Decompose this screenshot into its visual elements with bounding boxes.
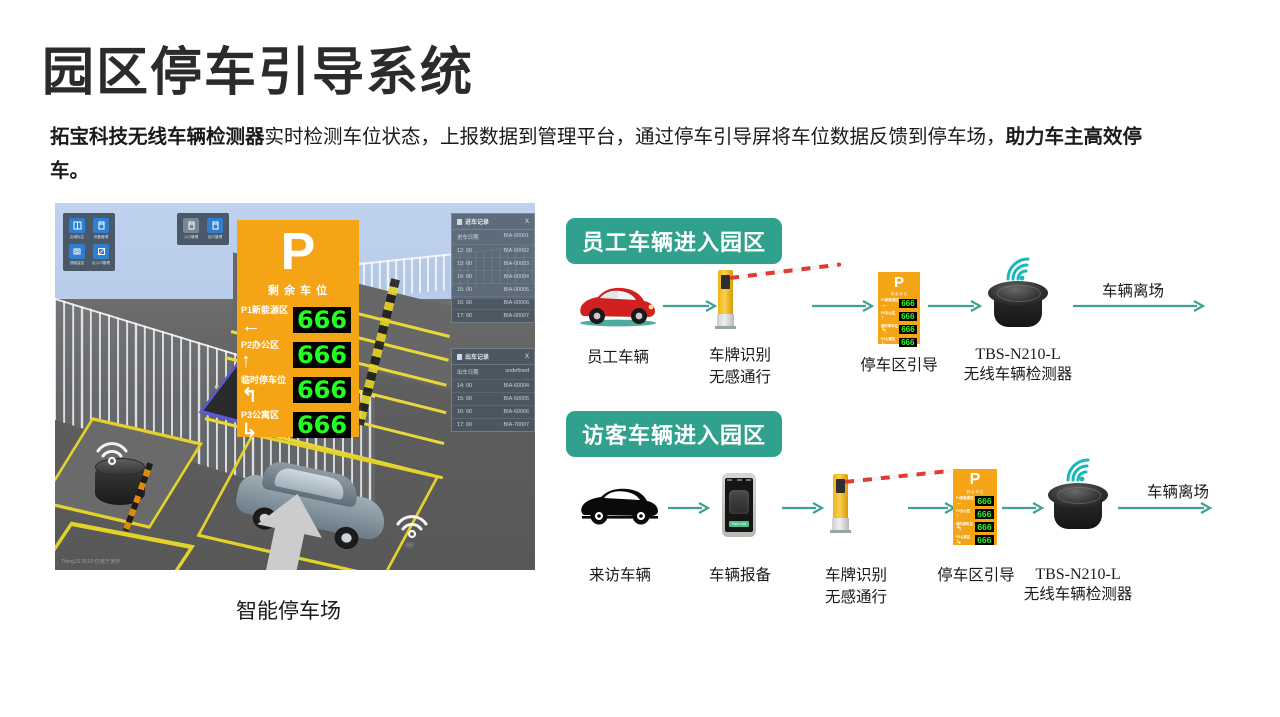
puck-top	[988, 281, 1048, 305]
panel-icon	[69, 218, 85, 233]
page-subtitle: 拓宝科技无线车辆检测器实时检测车位状态，上报数据到管理平台，通过停车引导屏将车位…	[50, 120, 1180, 188]
wifi-signal-icon	[395, 513, 429, 539]
sign-row-3: P3公寓区 ↳ 666	[241, 408, 355, 441]
slide-root: 园区停车引导系统 拓宝科技无线车辆检测器实时检测车位状态，上报数据到管理平台，通…	[0, 0, 1280, 717]
scene-watermark: ThingJS 2019 仅用于演示	[61, 558, 120, 565]
exit-time: 15: 00	[457, 396, 472, 402]
entry-time: 13: 00	[457, 261, 472, 267]
gate-foot	[830, 530, 851, 533]
flow-arrow-2-3	[908, 502, 958, 514]
flow-badge-visitor: 访客车辆进入园区	[566, 411, 782, 457]
tool-button-2[interactable]: 视频监控	[67, 244, 87, 266]
parking-guidance-sign-icon: P 剩 余 车 位 P1新能源区 ← 666 P2办公区 ↑ 666 临时停车位…	[953, 469, 997, 545]
flow-arrow-1-1	[663, 300, 719, 312]
table-row[interactable]: 16: 00BIA-00006	[452, 297, 534, 310]
entry-col-right: BIA-00001	[504, 233, 529, 241]
sign-row-2: 临时停车位 ↰ 666	[241, 373, 355, 406]
table-row[interactable]: 17: 00BIA-70007	[452, 419, 534, 431]
sign-row-small-3: P3公寓区 ↳ 666	[956, 534, 994, 546]
scene-detector-small	[403, 541, 416, 549]
list-icon	[457, 354, 462, 360]
page-title: 园区停车引导系统	[42, 44, 474, 104]
table-row[interactable]: 14: 00BIA-00004	[452, 271, 534, 284]
exit-time: 16: 00	[457, 409, 472, 415]
sign-row-small-2: 临时停车位 ↰ 666	[881, 323, 917, 335]
park-now-button[interactable]: Park now	[729, 521, 749, 527]
exit-records-panel[interactable]: 出车记录 X 出车日期 undefined 14: 00BIA-60004 15…	[451, 348, 535, 432]
tool-label-0: 区域标注	[70, 235, 84, 240]
sign-count-small-2: 666	[899, 325, 917, 334]
scene-caption: 智能停车场	[236, 595, 341, 625]
sign-count-small-0: 666	[975, 496, 994, 506]
sign-title: 剩 余 车 位	[237, 282, 359, 298]
camera-icon	[69, 244, 85, 259]
phone-statusbar	[727, 479, 751, 482]
exit-id: BIA-50005	[504, 396, 529, 402]
device-icon	[93, 218, 109, 233]
entry-id: BIA-00003	[504, 261, 529, 267]
table-row[interactable]: 13: 00BIA-00003	[452, 258, 534, 271]
flow-arrow-2-4	[1002, 502, 1046, 514]
red-car-icon	[578, 283, 658, 329]
p-letter-small: P	[953, 472, 997, 488]
tool-button-0[interactable]: 区域标注	[67, 218, 87, 240]
gate-base	[832, 518, 849, 530]
sign-arrow-2: ↰	[241, 386, 293, 406]
entry-id: BIA-00002	[504, 248, 529, 254]
sign-count-small-3: 666	[899, 338, 917, 347]
tool-button-exit[interactable]: 出口管理	[205, 218, 225, 240]
gate-icon	[93, 244, 109, 259]
subtitle-strong-1: 拓宝科技无线车辆检测器	[50, 126, 265, 148]
table-row[interactable]: 14: 00BIA-60004	[452, 380, 534, 393]
sign-arrow-small-2: ↰	[956, 526, 973, 533]
gate-screen	[836, 479, 845, 493]
entry-records-title-wrap: 进车记录	[457, 217, 489, 226]
flow-arrow-2-exit	[1118, 502, 1214, 514]
sign-arrow-small-1: ↑	[881, 315, 897, 322]
flow-label-detector-name-1: 无线车辆检测器	[958, 364, 1078, 386]
tool-button-entry[interactable]: 入口管理	[181, 218, 201, 240]
entry-time: 16: 00	[457, 300, 472, 306]
flow-label-guidance-1: 停车区引导	[849, 355, 949, 377]
exit-id: BIA-60004	[504, 383, 529, 389]
exit-id: BIA-60006	[504, 409, 529, 415]
sign-row-small-0: P1新能源区 ← 666	[881, 297, 917, 309]
flow-label-line1: 车牌识别	[808, 565, 904, 587]
sign-row-small-2: 临时停车位 ↰ 666	[956, 521, 994, 533]
entry-col-left: 进车日期	[457, 233, 479, 241]
flow-label-plate-recognition-2: 车牌识别 无感通行	[808, 565, 904, 610]
flow-label-detector-model-2: TBS-N210-L	[1018, 563, 1138, 586]
wifi-signal-icon	[1004, 257, 1038, 283]
exit-records-colheader: 出车日期 undefined	[452, 365, 534, 380]
sign-count-3: 666	[293, 412, 351, 438]
parking-scene-image: 区域标注 设备管理 视频监控 出入口管理	[55, 203, 535, 570]
sign-count-small-0: 666	[899, 299, 917, 308]
close-icon[interactable]: X	[525, 354, 529, 360]
table-row[interactable]: 15: 00BIA-50005	[452, 393, 534, 406]
scene-toolbar-right[interactable]: 入口管理 出口管理	[177, 213, 229, 245]
sign-count-2: 666	[293, 377, 351, 403]
table-row[interactable]: 12: 00BIA-00002	[452, 245, 534, 258]
entry-id: BIA-00007	[504, 313, 529, 319]
entry-time: 17: 00	[457, 313, 472, 319]
entry-time: 15: 00	[457, 287, 472, 293]
exit-icon	[207, 218, 223, 233]
exit-records-title: 出车记录	[465, 352, 489, 361]
p-letter-small: P	[878, 275, 920, 290]
exit-time: 14: 00	[457, 383, 472, 389]
sign-row-small-1: P2办公区 ↑ 666	[956, 508, 994, 520]
entry-records-panel[interactable]: 进车记录 X 进车日期 BIA-00001 12: 00BIA-00002 13…	[451, 213, 535, 323]
sign-arrow-small-1: ↑	[956, 513, 973, 520]
wifi-signal-icon	[1064, 458, 1098, 484]
entry-time: 14: 00	[457, 274, 472, 280]
tool-label-2: 视频监控	[70, 261, 84, 266]
flow-label-line2: 无感通行	[808, 587, 904, 609]
phone-icon: Park now	[722, 473, 756, 537]
entry-records-title: 进车记录	[465, 217, 489, 226]
puck-top	[1048, 483, 1108, 507]
flow-label-employee-car: 员工车辆	[578, 347, 658, 369]
sign-count-small-1: 666	[975, 509, 994, 519]
flow-label-line2: 无感通行	[690, 367, 790, 389]
gate-base	[717, 314, 734, 326]
sign-title-small: 剩 余 车 位	[878, 291, 920, 296]
flow-label-visitor-car: 来访车辆	[576, 565, 664, 587]
tool-label-1: 设备管理	[94, 235, 108, 240]
close-icon[interactable]: X	[525, 219, 529, 225]
flow-arrow-1-exit	[1073, 300, 1207, 312]
flow-label-line1: 车牌识别	[690, 345, 790, 367]
sign-arrow-1: ↑	[241, 351, 293, 371]
list-icon	[457, 219, 462, 225]
puck-detector-icon	[988, 281, 1048, 329]
flow-arrow-1-2	[812, 300, 876, 312]
phone-screen: Park now	[725, 478, 753, 532]
sign-count-1: 666	[293, 342, 351, 368]
sign-arrow-3: ↳	[241, 421, 293, 441]
scene-toolbar-left[interactable]: 区域标注 设备管理 视频监控 出入口管理	[63, 213, 115, 271]
sign-arrow-0: ←	[241, 316, 293, 336]
exit-time: 17: 00	[457, 422, 472, 428]
flow-label-detector-model-1: TBS-N210-L	[958, 343, 1078, 366]
sign-arrow-small-0: ←	[956, 500, 973, 507]
entry-time: 12: 00	[457, 248, 472, 254]
sign-row-small-0: P1新能源区 ← 666	[956, 495, 994, 507]
entry-id: BIA-00004	[504, 274, 529, 280]
phone-car-image	[729, 490, 749, 514]
sign-row-1: P2办公区 ↑ 666	[241, 338, 355, 371]
tool-label-exit: 出口管理	[208, 235, 222, 240]
flow-arrow-1-3	[928, 300, 984, 312]
exit-col-right: undefined	[505, 368, 529, 376]
parking-guidance-sign-large: P 剩 余 车 位 P1新能源区 ← 666 P2办公区 ↑ 666 临时停车位	[237, 220, 359, 437]
wifi-signal-icon	[95, 440, 129, 466]
exit-id: BIA-70007	[504, 422, 529, 428]
sign-row-0: P1新能源区 ← 666	[241, 303, 355, 336]
gate-screen	[721, 275, 730, 289]
entry-id: BIA-00006	[504, 300, 529, 306]
flow-label-guidance-2: 停车区引导	[926, 565, 1026, 587]
puck-detector-icon	[1048, 483, 1108, 531]
floor-direction-arrow-icon	[250, 491, 328, 570]
sign-count-small-3: 666	[975, 535, 994, 545]
table-row[interactable]: 16: 00BIA-60006	[452, 406, 534, 419]
tool-label-3: 出入口管理	[92, 261, 110, 266]
flow-label-plate-recognition-1: 车牌识别 无感通行	[690, 345, 790, 390]
sign-arrow-small-3: ↳	[956, 539, 973, 546]
sign-row-small-1: P2办公区 ↑ 666	[881, 310, 917, 322]
black-car-icon	[580, 485, 660, 529]
tool-label-entry: 入口管理	[184, 235, 198, 240]
table-row[interactable]: 15: 00BIA-00005	[452, 284, 534, 297]
sign-count-0: 666	[293, 307, 351, 333]
gate-boom	[845, 469, 953, 484]
p-letter: P	[237, 226, 359, 278]
sign-arrow-small-2: ↰	[881, 328, 897, 335]
exit-records-header: 出车记录 X	[452, 349, 534, 365]
gate-foot	[715, 326, 736, 329]
flow-badge-employee: 员工车辆进入园区	[566, 218, 782, 264]
flow-label-detector-name-2: 无线车辆检测器	[1018, 584, 1138, 606]
flow-label-registration: 车辆报备	[695, 565, 785, 587]
entry-records-colheader: 进车日期 BIA-00001	[452, 230, 534, 245]
entry-id: BIA-00005	[504, 287, 529, 293]
entry-icon	[183, 218, 199, 233]
tool-button-3[interactable]: 出入口管理	[91, 244, 111, 266]
exit-col-left: 出车日期	[457, 368, 479, 376]
sign-row-small-3: P3公寓区 ↳ 666	[881, 336, 917, 348]
entry-records-header: 进车记录 X	[452, 214, 534, 230]
sign-title-small: 剩 余 车 位	[953, 489, 997, 494]
exit-records-title-wrap: 出车记录	[457, 352, 489, 361]
table-row[interactable]: 17: 00BIA-00007	[452, 310, 534, 322]
sign-arrow-small-0: ←	[881, 302, 897, 309]
flow-arrow-2-1	[668, 502, 712, 514]
flow-arrow-2-2	[782, 502, 826, 514]
sign-count-small-1: 666	[899, 312, 917, 321]
subtitle-middle: 实时检测车位状态，上报数据到管理平台，通过停车引导屏将车位数据反馈到停车场，	[265, 126, 1006, 148]
parking-guidance-sign-icon: P 剩 余 车 位 P1新能源区 ← 666 P2办公区 ↑ 666 临时停车位…	[878, 272, 920, 344]
gate-boom	[730, 262, 842, 280]
sign-count-small-2: 666	[975, 522, 994, 532]
sign-arrow-small-3: ↳	[881, 341, 897, 348]
tool-button-1[interactable]: 设备管理	[91, 218, 111, 240]
